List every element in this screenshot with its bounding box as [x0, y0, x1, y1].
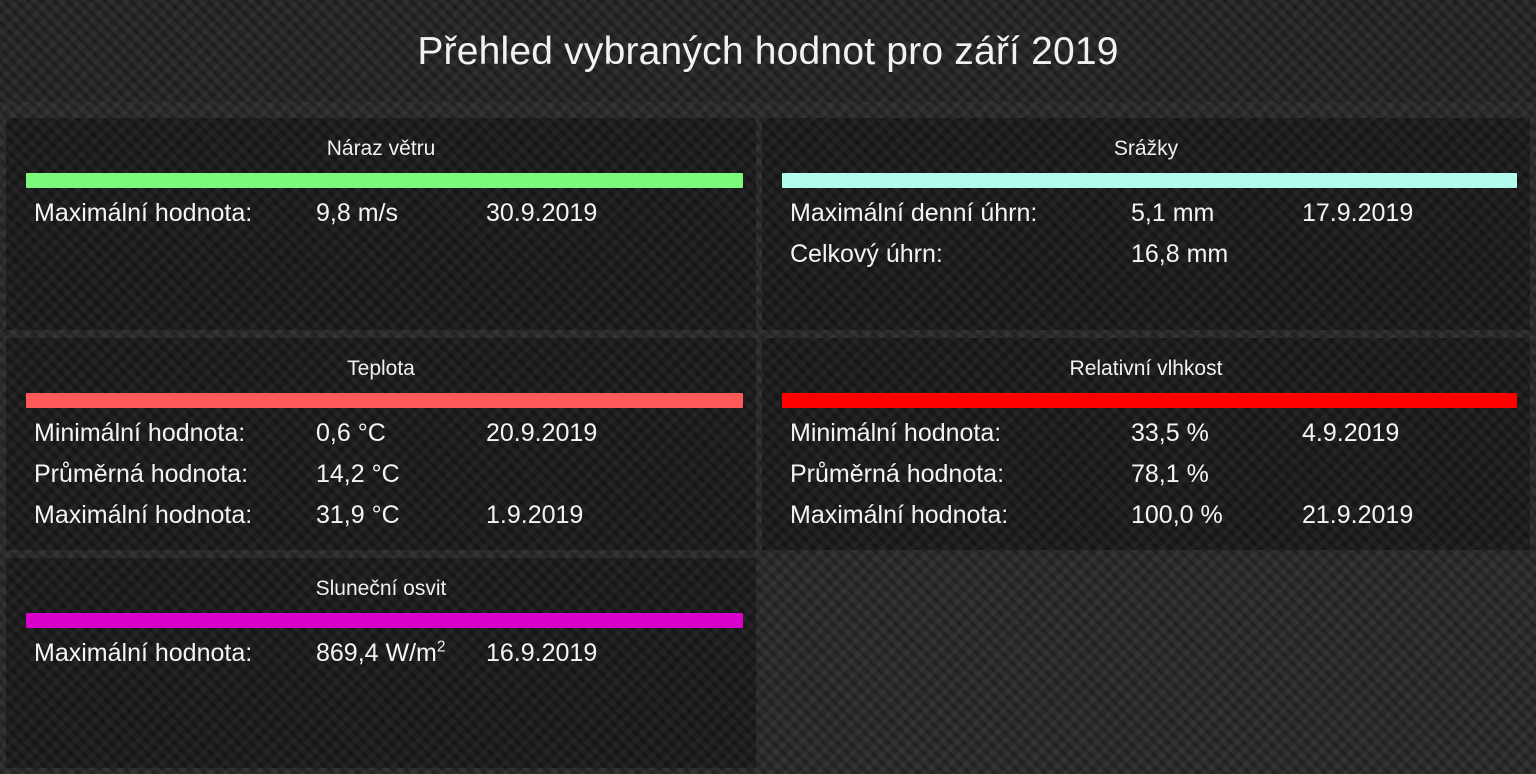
header-bar: Přehled vybraných hodnot pro září 2019: [0, 0, 1536, 102]
panel-humidity-rows: Minimální hodnota: 33,5 % 4.9.2019 Průmě…: [762, 408, 1530, 544]
panel-rain-rows: Maximální denní úhrn: 5,1 mm 17.9.2019 C…: [762, 188, 1530, 283]
metric-value: 14,2 °C: [316, 462, 486, 487]
metric-value: 31,9 °C: [316, 503, 486, 528]
metric-date: 30.9.2019: [486, 201, 597, 226]
panel-temperature: Teplota Minimální hodnota: 0,6 °C 20.9.2…: [6, 338, 756, 550]
metric-label: Maximální denní úhrn:: [762, 201, 1131, 226]
metric-value: 33,5 %: [1131, 421, 1302, 446]
metric-date: 20.9.2019: [486, 421, 597, 446]
metric-row: Celkový úhrn: 16,8 mm: [762, 242, 1530, 283]
panel-rain-title: Srážky: [762, 118, 1530, 159]
panel-rain-accent-bar: [782, 173, 1517, 188]
metric-value: 16,8 mm: [1131, 242, 1302, 267]
metric-row: Průměrná hodnota: 78,1 %: [762, 462, 1530, 503]
metric-date: 1.9.2019: [486, 503, 583, 528]
panel-wind-rows: Maximální hodnota: 9,8 m/s 30.9.2019: [6, 188, 756, 242]
metric-value: 78,1 %: [1131, 462, 1302, 487]
metric-label: Celkový úhrn:: [762, 242, 1131, 267]
metric-date: 21.9.2019: [1302, 503, 1413, 528]
panel-temperature-rows: Minimální hodnota: 0,6 °C 20.9.2019 Prům…: [6, 408, 756, 544]
panel-sunshine-accent-bar: [26, 613, 743, 628]
panel-wind: Náraz větru Maximální hodnota: 9,8 m/s 3…: [6, 118, 756, 330]
page-title: Přehled vybraných hodnot pro září 2019: [417, 32, 1118, 71]
panel-humidity-accent-bar: [782, 393, 1517, 408]
metric-row: Minimální hodnota: 0,6 °C 20.9.2019: [6, 421, 756, 462]
panel-wind-accent-bar: [26, 173, 743, 188]
panel-rain: Srážky Maximální denní úhrn: 5,1 mm 17.9…: [762, 118, 1530, 330]
panel-sunshine: Sluneční osvit Maximální hodnota: 869,4 …: [6, 558, 756, 768]
metric-label: Maximální hodnota:: [6, 641, 316, 666]
panel-sunshine-title: Sluneční osvit: [6, 558, 756, 599]
metric-row: Minimální hodnota: 33,5 % 4.9.2019: [762, 421, 1530, 462]
metric-row: Maximální hodnota: 9,8 m/s 30.9.2019: [6, 201, 756, 242]
metric-value: 0,6 °C: [316, 421, 486, 446]
panel-humidity: Relativní vlhkost Minimální hodnota: 33,…: [762, 338, 1530, 550]
panel-humidity-title: Relativní vlhkost: [762, 338, 1530, 379]
metric-date: 17.9.2019: [1302, 201, 1413, 226]
metric-label: Maximální hodnota:: [6, 201, 316, 226]
panel-temperature-title: Teplota: [6, 338, 756, 379]
panel-wind-title: Náraz větru: [6, 118, 756, 159]
metric-row: Průměrná hodnota: 14,2 °C: [6, 462, 756, 503]
metric-label: Maximální hodnota:: [762, 503, 1131, 528]
metric-value-exponent: 2: [437, 639, 446, 656]
metric-label: Minimální hodnota:: [6, 421, 316, 446]
metric-value-base: 869,4 W/m: [316, 639, 437, 667]
metric-value: 5,1 mm: [1131, 201, 1302, 226]
metric-value: 100,0 %: [1131, 503, 1302, 528]
metric-label: Průměrná hodnota:: [762, 462, 1131, 487]
metric-date: 16.9.2019: [486, 641, 597, 666]
metric-row: Maximální hodnota: 100,0 % 21.9.2019: [762, 503, 1530, 544]
metric-date: 4.9.2019: [1302, 421, 1399, 446]
panel-temperature-accent-bar: [26, 393, 743, 408]
metric-row: Maximální denní úhrn: 5,1 mm 17.9.2019: [762, 201, 1530, 242]
dashboard-root: Přehled vybraných hodnot pro září 2019 N…: [0, 0, 1536, 774]
metric-row: Maximální hodnota: 31,9 °C 1.9.2019: [6, 503, 756, 544]
metric-value: 869,4 W/m2: [316, 641, 486, 666]
metric-label: Minimální hodnota:: [762, 421, 1131, 446]
metric-label: Průměrná hodnota:: [6, 462, 316, 487]
metric-label: Maximální hodnota:: [6, 503, 316, 528]
metric-value: 9,8 m/s: [316, 201, 486, 226]
metric-row: Maximální hodnota: 869,4 W/m2 16.9.2019: [6, 641, 756, 682]
panel-sunshine-rows: Maximální hodnota: 869,4 W/m2 16.9.2019: [6, 628, 756, 682]
